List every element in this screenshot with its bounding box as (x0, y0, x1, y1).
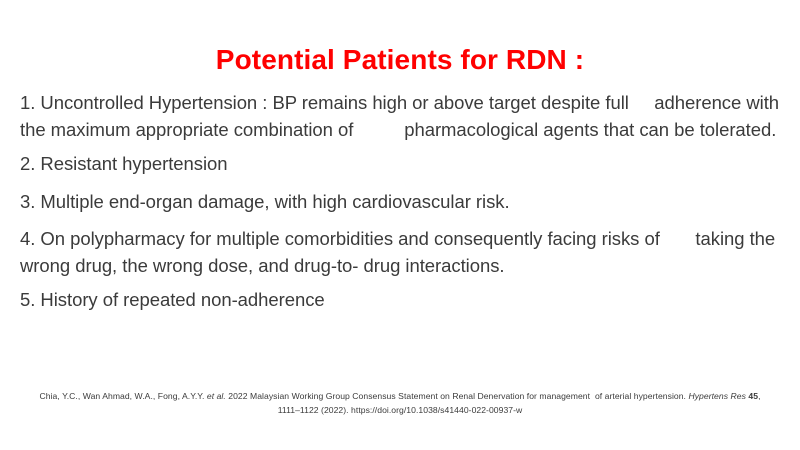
list-item: 2. Resistant hypertension (20, 151, 780, 178)
list-item: 4. On polypharmacy for multiple comorbid… (20, 226, 780, 279)
list-item: 3. Multiple end-organ damage, with high … (20, 189, 780, 216)
citation-et-al: et al. (207, 391, 226, 401)
citation-reference: Chia, Y.C., Wan Ahmad, W.A., Fong, A.Y.Y… (28, 390, 772, 417)
citation-article-title: 2022 Malaysian Working Group Consensus S… (226, 391, 689, 401)
page-title: Potential Patients for RDN : (0, 43, 800, 77)
citation-volume: 45 (748, 391, 758, 401)
list-item: 1. Uncontrolled Hypertension : BP remain… (20, 90, 780, 143)
slide-canvas: Potential Patients for RDN : 1. Uncontro… (0, 0, 800, 450)
citation-journal: Hypertens Res (688, 391, 746, 401)
citation-authors: Chia, Y.C., Wan Ahmad, W.A., Fong, A.Y.Y… (39, 391, 206, 401)
list-item: 5. History of repeated non-adherence (20, 287, 780, 314)
content-list: 1. Uncontrolled Hypertension : BP remain… (20, 90, 780, 314)
